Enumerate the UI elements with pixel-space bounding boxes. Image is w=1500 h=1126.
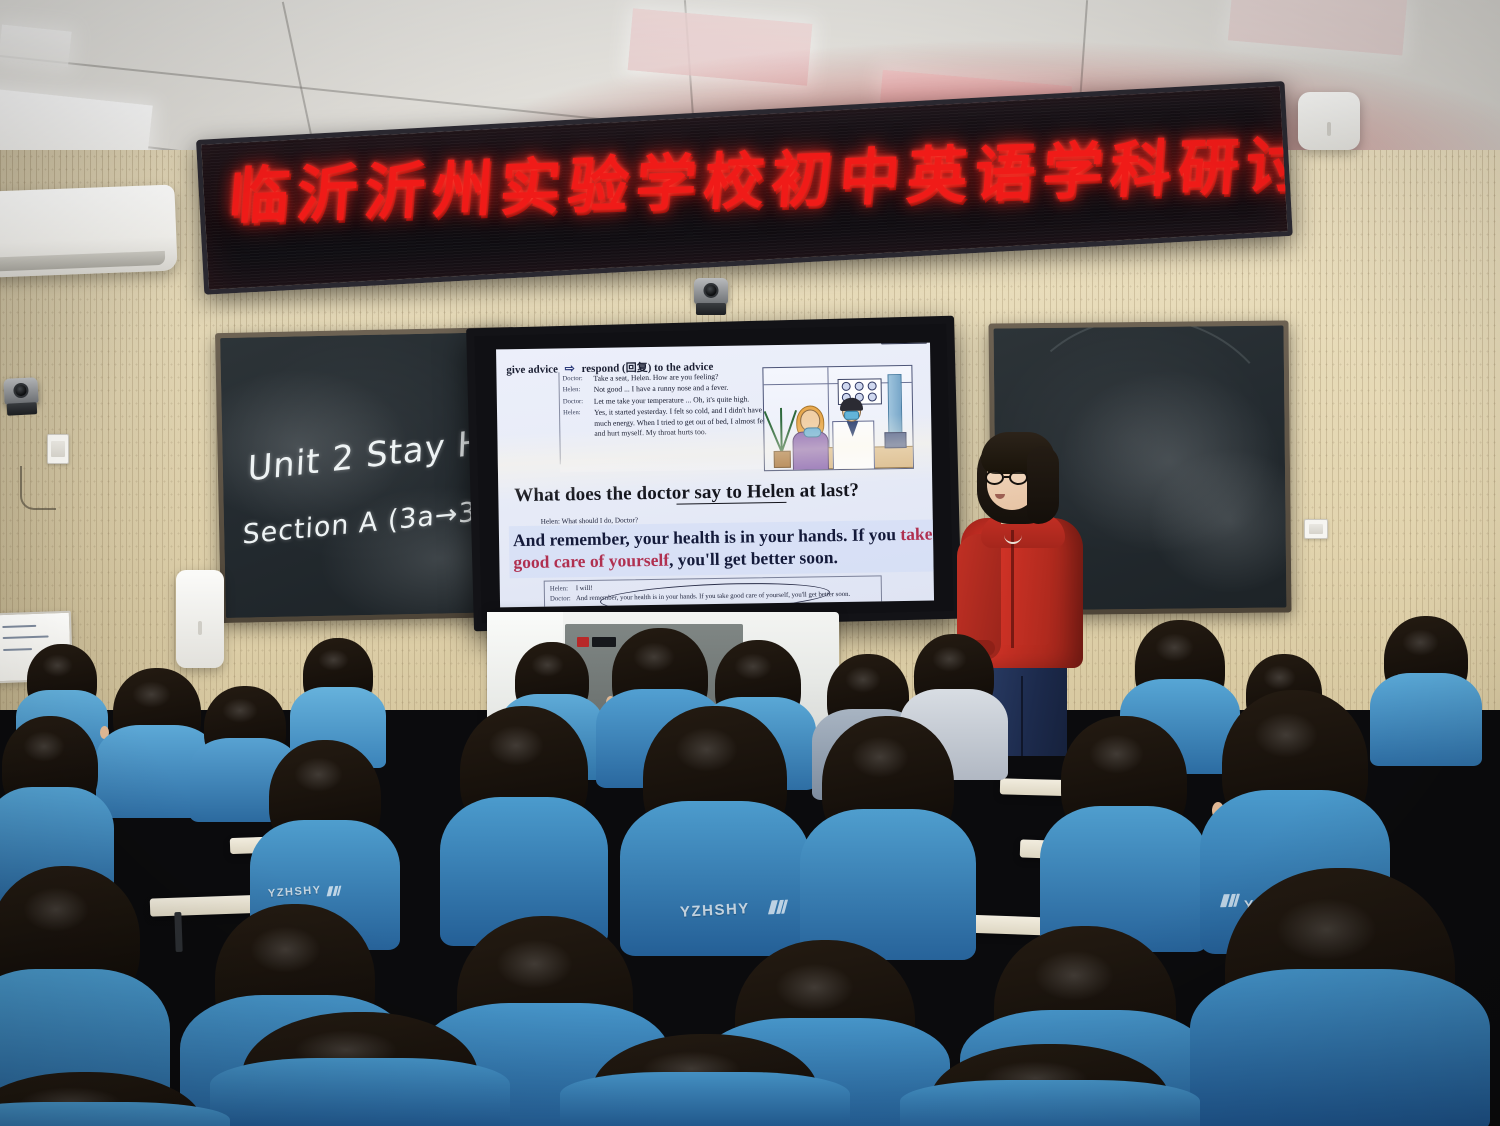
classroom-photo: 临沂沂州实验学校初中英语学科研讨活动 Unit 2 Stay Healthy S… xyxy=(0,0,1500,1126)
lesson-slide: 课件 2024下学期 give advice ⇨ respond (回复) to… xyxy=(496,342,934,607)
wall-switch[interactable] xyxy=(47,434,69,464)
student xyxy=(560,1034,850,1126)
face-mask-icon xyxy=(844,410,859,419)
bottom-text: I will! xyxy=(576,585,593,592)
answer-part-1: And remember, your health is in your han… xyxy=(513,524,901,550)
patient-scarf xyxy=(803,427,821,437)
student-torso xyxy=(1190,969,1490,1126)
monitor-icon xyxy=(884,432,906,448)
bottom-speaker: Helen: xyxy=(550,584,576,595)
light-switch[interactable] xyxy=(1304,519,1328,539)
student xyxy=(210,1012,510,1126)
glasses-icon xyxy=(985,470,1035,486)
ac-vent xyxy=(0,251,165,272)
dialogue-text: Yes, it started yesterday. I felt so col… xyxy=(594,405,778,440)
slide-header-left: give advice xyxy=(506,363,558,376)
student xyxy=(1190,868,1490,1126)
interactive-display[interactable]: 课件 2024下学期 give advice ⇨ respond (回复) to… xyxy=(466,316,962,632)
student xyxy=(440,706,608,946)
dialogue-fade xyxy=(560,455,785,473)
plant-icon xyxy=(770,398,793,468)
student-torso xyxy=(210,1058,510,1126)
student-torso xyxy=(900,1080,1200,1126)
student-torso xyxy=(800,809,976,960)
dialogue-speaker: Helen: xyxy=(562,385,588,396)
bottom-speaker: Doctor: xyxy=(550,594,576,605)
air-conditioner xyxy=(0,184,178,277)
arrow-right-icon: ⇨ xyxy=(560,361,578,375)
wall-speaker-right xyxy=(1298,92,1360,150)
camera-lens-icon xyxy=(704,283,719,298)
camera-mount xyxy=(7,402,38,416)
student-torso xyxy=(560,1072,850,1126)
student xyxy=(800,716,976,960)
camera-mount xyxy=(696,303,726,315)
dialogue-speaker: Helen: xyxy=(563,408,590,441)
student-seating: YZHSHY YZHSHY xyxy=(0,620,1500,1126)
dialogue-speaker: Doctor: xyxy=(563,396,589,407)
blackboard-line-2: Section A (3a→3c) xyxy=(242,494,504,551)
student xyxy=(900,1044,1200,1126)
dialogue-rule xyxy=(558,372,560,464)
dialogue-row: Helen: Yes, it started yesterday. I felt… xyxy=(563,405,778,441)
cable xyxy=(20,466,56,510)
dialogue-block: Doctor: Take a seat, Helen. How are you … xyxy=(562,371,778,441)
dialogue-speaker: Doctor: xyxy=(562,374,588,385)
ptz-camera-icon xyxy=(3,377,38,405)
student xyxy=(1040,716,1208,952)
clinic-illustration xyxy=(762,365,914,471)
slide-answer: And remember, your health is in your han… xyxy=(513,522,934,573)
ceiling-light-panel xyxy=(0,24,72,67)
camera-lens-icon xyxy=(13,383,29,399)
student-torso xyxy=(0,1102,230,1126)
slide-badge: 课件 2024下学期 xyxy=(881,342,927,344)
ptz-camera-icon xyxy=(694,278,728,304)
student xyxy=(0,1072,230,1126)
answer-part-3: , you'll get better soon. xyxy=(669,547,838,570)
